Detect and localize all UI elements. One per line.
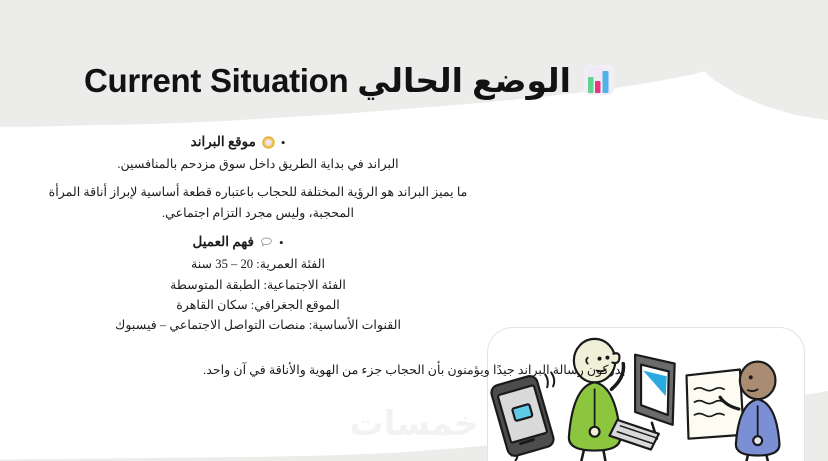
- bullet-text: ما يميز البراند هو الرؤية المختلفة للحجا…: [28, 182, 488, 223]
- bullet-text: البراند في بداية الطريق داخل سوق مزدحم ب…: [28, 154, 488, 174]
- bar-chart-icon: [583, 64, 615, 96]
- bullet-text: الفئة الاجتماعية: الطبقة المتوسطة: [28, 275, 488, 295]
- bullet-dot: •: [279, 236, 284, 249]
- bullet-heading-customer-understanding: • فهم العميل: [28, 234, 488, 250]
- bullet-text: الموقع الجغرافي: سكان القاهرة: [28, 295, 488, 315]
- smartphone-icon: [490, 374, 556, 457]
- doodle-people-devices-illustration: [487, 327, 805, 461]
- bullet-text: الفئة العمرية: 20 – 35 سنة: [28, 254, 488, 274]
- person-green: [569, 339, 624, 461]
- bullet-heading-brand-position: • موقع البراند: [28, 134, 488, 150]
- bullet-text: القنوات الأساسية: منصات التواصل الاجتماع…: [28, 315, 488, 335]
- bullet-label: فهم العميل: [192, 234, 254, 250]
- text-column: • موقع البراند البراند في بداية الطريق د…: [28, 134, 488, 336]
- speech-bubble-icon: [260, 236, 273, 249]
- slide-title-row: Current Situation الوضع الحالي: [0, 54, 828, 106]
- bullet-dot: •: [281, 136, 286, 149]
- bullet-label: موقع البراند: [191, 134, 256, 150]
- illustration-svg: [488, 328, 804, 461]
- closing-text: يدركون رسالة البراند جيدًا ويؤمنون بأن ا…: [14, 360, 814, 380]
- presentation-slide: Current Situation الوضع الحالي • موقع ال…: [0, 0, 828, 461]
- page-title: Current Situation الوضع الحالي: [84, 61, 571, 100]
- slide-body: • موقع البراند البراند في بداية الطريق د…: [0, 134, 828, 384]
- gold-coin-emoji: [262, 136, 275, 149]
